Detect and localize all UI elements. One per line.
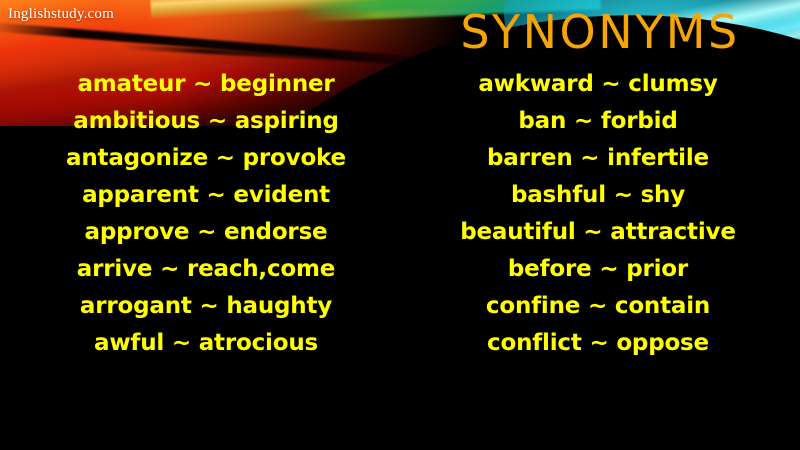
list-item: antagonize ~ provoke bbox=[10, 140, 402, 177]
list-item: approve ~ endorse bbox=[10, 214, 402, 251]
list-item: ban ~ forbid bbox=[402, 103, 794, 140]
list-item: beautiful ~ attractive bbox=[402, 214, 794, 251]
list-item: awkward ~ clumsy bbox=[402, 66, 794, 103]
synonym-column-left: amateur ~ beginner ambitious ~ aspiring … bbox=[0, 66, 402, 362]
list-item: awful ~ atrocious bbox=[10, 325, 402, 362]
dark-diagonal-streak bbox=[0, 22, 458, 69]
list-item: amateur ~ beginner bbox=[10, 66, 402, 103]
list-item: conflict ~ oppose bbox=[402, 325, 794, 362]
synonym-columns: amateur ~ beginner ambitious ~ aspiring … bbox=[0, 66, 800, 362]
site-watermark: Inglishstudy.com bbox=[8, 6, 114, 23]
synonyms-slide: Inglishstudy.com SYNONYMS amateur ~ begi… bbox=[0, 0, 800, 450]
list-item: before ~ prior bbox=[402, 251, 794, 288]
list-item: confine ~ contain bbox=[402, 288, 794, 325]
list-item: apparent ~ evident bbox=[10, 177, 402, 214]
page-title: SYNONYMS bbox=[400, 8, 800, 56]
list-item: ambitious ~ aspiring bbox=[10, 103, 402, 140]
list-item: barren ~ infertile bbox=[402, 140, 794, 177]
list-item: arrive ~ reach,come bbox=[10, 251, 402, 288]
list-item: bashful ~ shy bbox=[402, 177, 794, 214]
synonym-column-right: awkward ~ clumsy ban ~ forbid barren ~ i… bbox=[402, 66, 800, 362]
list-item: arrogant ~ haughty bbox=[10, 288, 402, 325]
